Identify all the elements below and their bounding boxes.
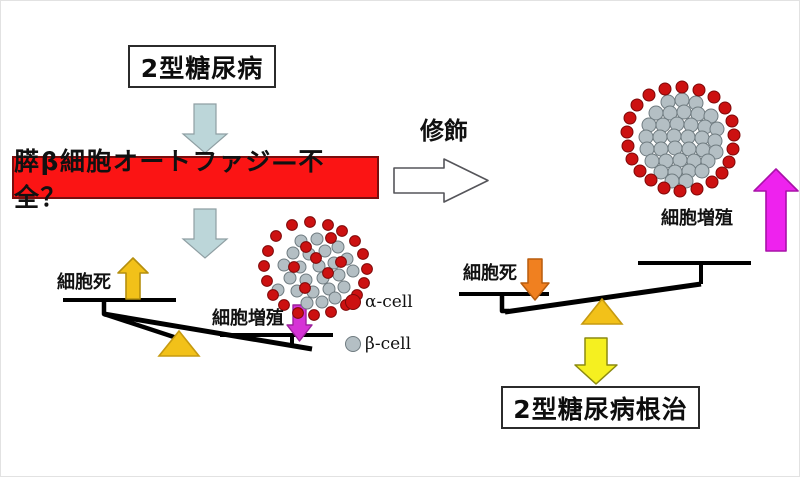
right-balance-hanger-right — [638, 263, 701, 284]
legend-markers — [346, 295, 361, 352]
left-scale-death-label: 細胞死 — [57, 268, 111, 294]
cure-outcome-box[interactable]: 2型糖尿病根治 — [501, 386, 700, 429]
legend-beta-cell-text: β-cell — [365, 334, 411, 354]
legend-alpha-cell-icon — [346, 295, 361, 310]
right-scale-proliferation-label: 細胞増殖 — [661, 204, 733, 230]
restored-islet — [621, 81, 740, 197]
t2dm-title-text: 2型糖尿病 — [141, 49, 263, 85]
autophagy-hypothesis-text: 膵β細胞オートファジ—不全？ — [14, 142, 377, 214]
left-scale-death-text: 細胞死 — [57, 272, 111, 293]
modification-label-text: 修飾 — [420, 117, 468, 145]
modification-arrow-icon — [394, 159, 488, 202]
left-scale-proliferation-label: 細胞増殖 — [212, 304, 284, 330]
cure-outcome-text: 2型糖尿病根治 — [513, 390, 687, 426]
modification-label: 修飾 — [420, 111, 468, 146]
right-scale-proliferation-text: 細胞増殖 — [661, 208, 733, 229]
right-scale-death-label: 細胞死 — [463, 259, 517, 285]
right-scale-death-text: 細胞死 — [463, 263, 517, 284]
legend-beta-cell-icon — [346, 337, 361, 352]
outcome-arrow-down — [575, 338, 617, 384]
legend-alpha-cell-label: α-cell — [365, 292, 413, 312]
diagram-canvas: 2型糖尿病 膵β細胞オートファジ—不全？ 修飾 細胞死 細胞増殖 細胞死 細胞増… — [0, 0, 800, 477]
right-proliferation-up-arrow — [754, 169, 798, 251]
left-scale-proliferation-text: 細胞増殖 — [212, 308, 284, 329]
right-balance-fulcrum — [582, 299, 622, 324]
right-balance-hanger-left — [502, 294, 509, 311]
autophagy-hypothesis-box[interactable]: 膵β細胞オートファジ—不全？ — [12, 156, 379, 199]
legend-beta-cell-label: β-cell — [365, 334, 411, 354]
flow-arrow-down-2 — [183, 209, 227, 258]
t2dm-title-box[interactable]: 2型糖尿病 — [128, 45, 276, 88]
legend-alpha-cell-text: α-cell — [365, 292, 413, 312]
left-death-up-arrow — [118, 258, 148, 299]
